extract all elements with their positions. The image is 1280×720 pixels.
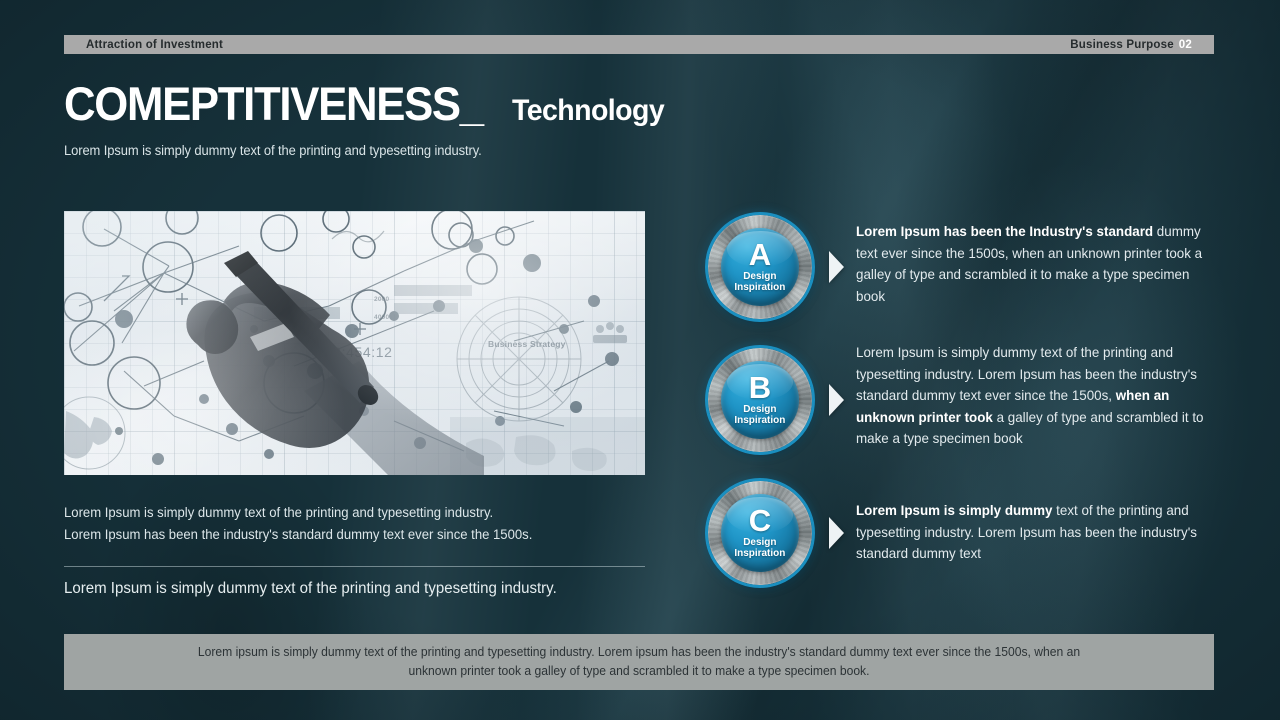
header-right-group: Business Purpose 02 [1070,39,1192,51]
badge-b-letter: B [749,374,771,402]
page-title: COMEPTITIVENESS_Technology [64,80,672,127]
badge-b-caption: Design Inspiration [734,404,785,427]
bottom-caption-bar: Lorem ipsum is simply dummy text of the … [64,634,1214,690]
text-block-c-bold: Lorem Ipsum is simply dummy [856,503,1052,518]
page-title-accent: Technology [512,96,664,126]
text-block-a: Lorem Ipsum has been the Industry's stan… [856,221,1209,307]
left-paragraph-below-divider: Lorem Ipsum is simply dummy text of the … [64,578,665,600]
badge-a-core: A Design Inspiration [721,228,799,306]
badge-c-caption-line1: Design [734,537,785,549]
arrow-right-icon-c [829,517,844,549]
header-left-label: Attraction of Investment [86,39,223,51]
badge-c-letter: C [749,507,771,535]
badge-a-caption-line2: Inspiration [734,282,785,294]
text-block-c: Lorem Ipsum is simply dummy text of the … [856,500,1209,565]
badge-c[interactable]: C Design Inspiration [708,481,812,585]
left-divider-line [64,566,645,567]
left-paragraph-line-1: Lorem Ipsum is simply dummy text of the … [64,502,646,524]
badge-a-caption-line1: Design [734,271,785,283]
badge-a-caption: Design Inspiration [734,271,785,294]
header-right-label: Business Purpose [1070,39,1174,51]
photo-business-strategy-label: Business Strategy [488,339,566,349]
bottom-caption-text: Lorem ipsum is simply dummy text of the … [173,643,1104,681]
page-title-main: COMEPTITIVENESS_ [64,80,483,127]
text-block-a-bold: Lorem Ipsum has been the Industry's stan… [856,224,1153,239]
left-paragraph-block: Lorem Ipsum is simply dummy text of the … [64,502,646,546]
text-block-b: Lorem Ipsum is simply dummy text of the … [856,342,1209,450]
badge-c-caption-line2: Inspiration [734,548,785,560]
hand-with-pen-graphic [154,241,484,475]
hand-drawing-network-diagram-photo: 4:23:454:12 Business Strategy 2000 4000 [64,211,645,475]
slide-canvas: Attraction of Investment Business Purpos… [0,0,1280,720]
arrow-right-icon-b [829,384,844,416]
badge-b-caption-line1: Design [734,404,785,416]
left-paragraph-line-2: Lorem Ipsum has been the industry's stan… [64,524,646,546]
badge-c-core: C Design Inspiration [721,494,799,572]
badge-c-caption: Design Inspiration [734,537,785,560]
header-bar: Attraction of Investment Business Purpos… [64,35,1214,54]
badge-a-letter: A [749,241,771,269]
badge-b-core: B Design Inspiration [721,361,799,439]
badge-a[interactable]: A Design Inspiration [708,215,812,319]
arrow-right-icon-a [829,251,844,283]
badge-b[interactable]: B Design Inspiration [708,348,812,452]
page-subtitle: Lorem Ipsum is simply dummy text of the … [64,143,482,158]
header-slide-number: 02 [1179,39,1192,51]
badge-b-caption-line2: Inspiration [734,415,785,427]
